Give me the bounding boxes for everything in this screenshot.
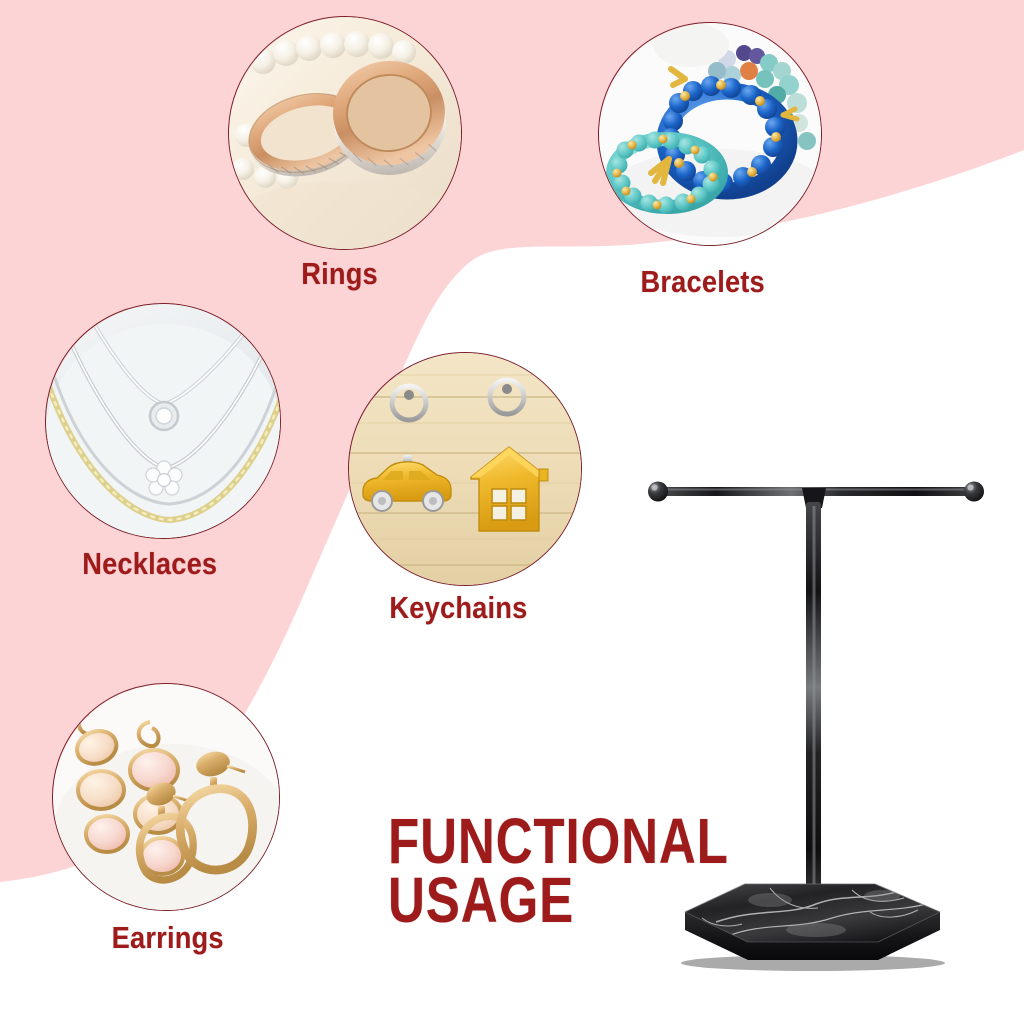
hexagonal-marble-base	[681, 884, 945, 971]
category-label-necklaces: Necklaces	[82, 546, 217, 582]
rings-photo	[229, 17, 462, 250]
category-card-earrings[interactable]	[52, 683, 280, 911]
category-label-keychains: Keychains	[389, 590, 527, 626]
bracelets-photo	[599, 23, 822, 246]
necklaces-photo	[46, 304, 281, 539]
earrings-photo	[53, 684, 280, 911]
category-label-earrings: Earrings	[112, 920, 224, 956]
t-bar-jewelry-stand[interactable]	[620, 460, 1020, 980]
ball-finial-right	[964, 482, 984, 502]
category-card-keychains[interactable]	[348, 352, 582, 586]
category-card-rings[interactable]	[228, 16, 462, 250]
ball-finial-left	[648, 482, 668, 502]
category-label-bracelets: Bracelets	[640, 264, 764, 300]
infographic-canvas: Rings	[0, 0, 1024, 1024]
category-card-necklaces[interactable]	[45, 303, 281, 539]
category-card-bracelets[interactable]	[598, 22, 822, 246]
category-label-rings: Rings	[301, 256, 378, 292]
keychains-photo	[349, 353, 582, 586]
